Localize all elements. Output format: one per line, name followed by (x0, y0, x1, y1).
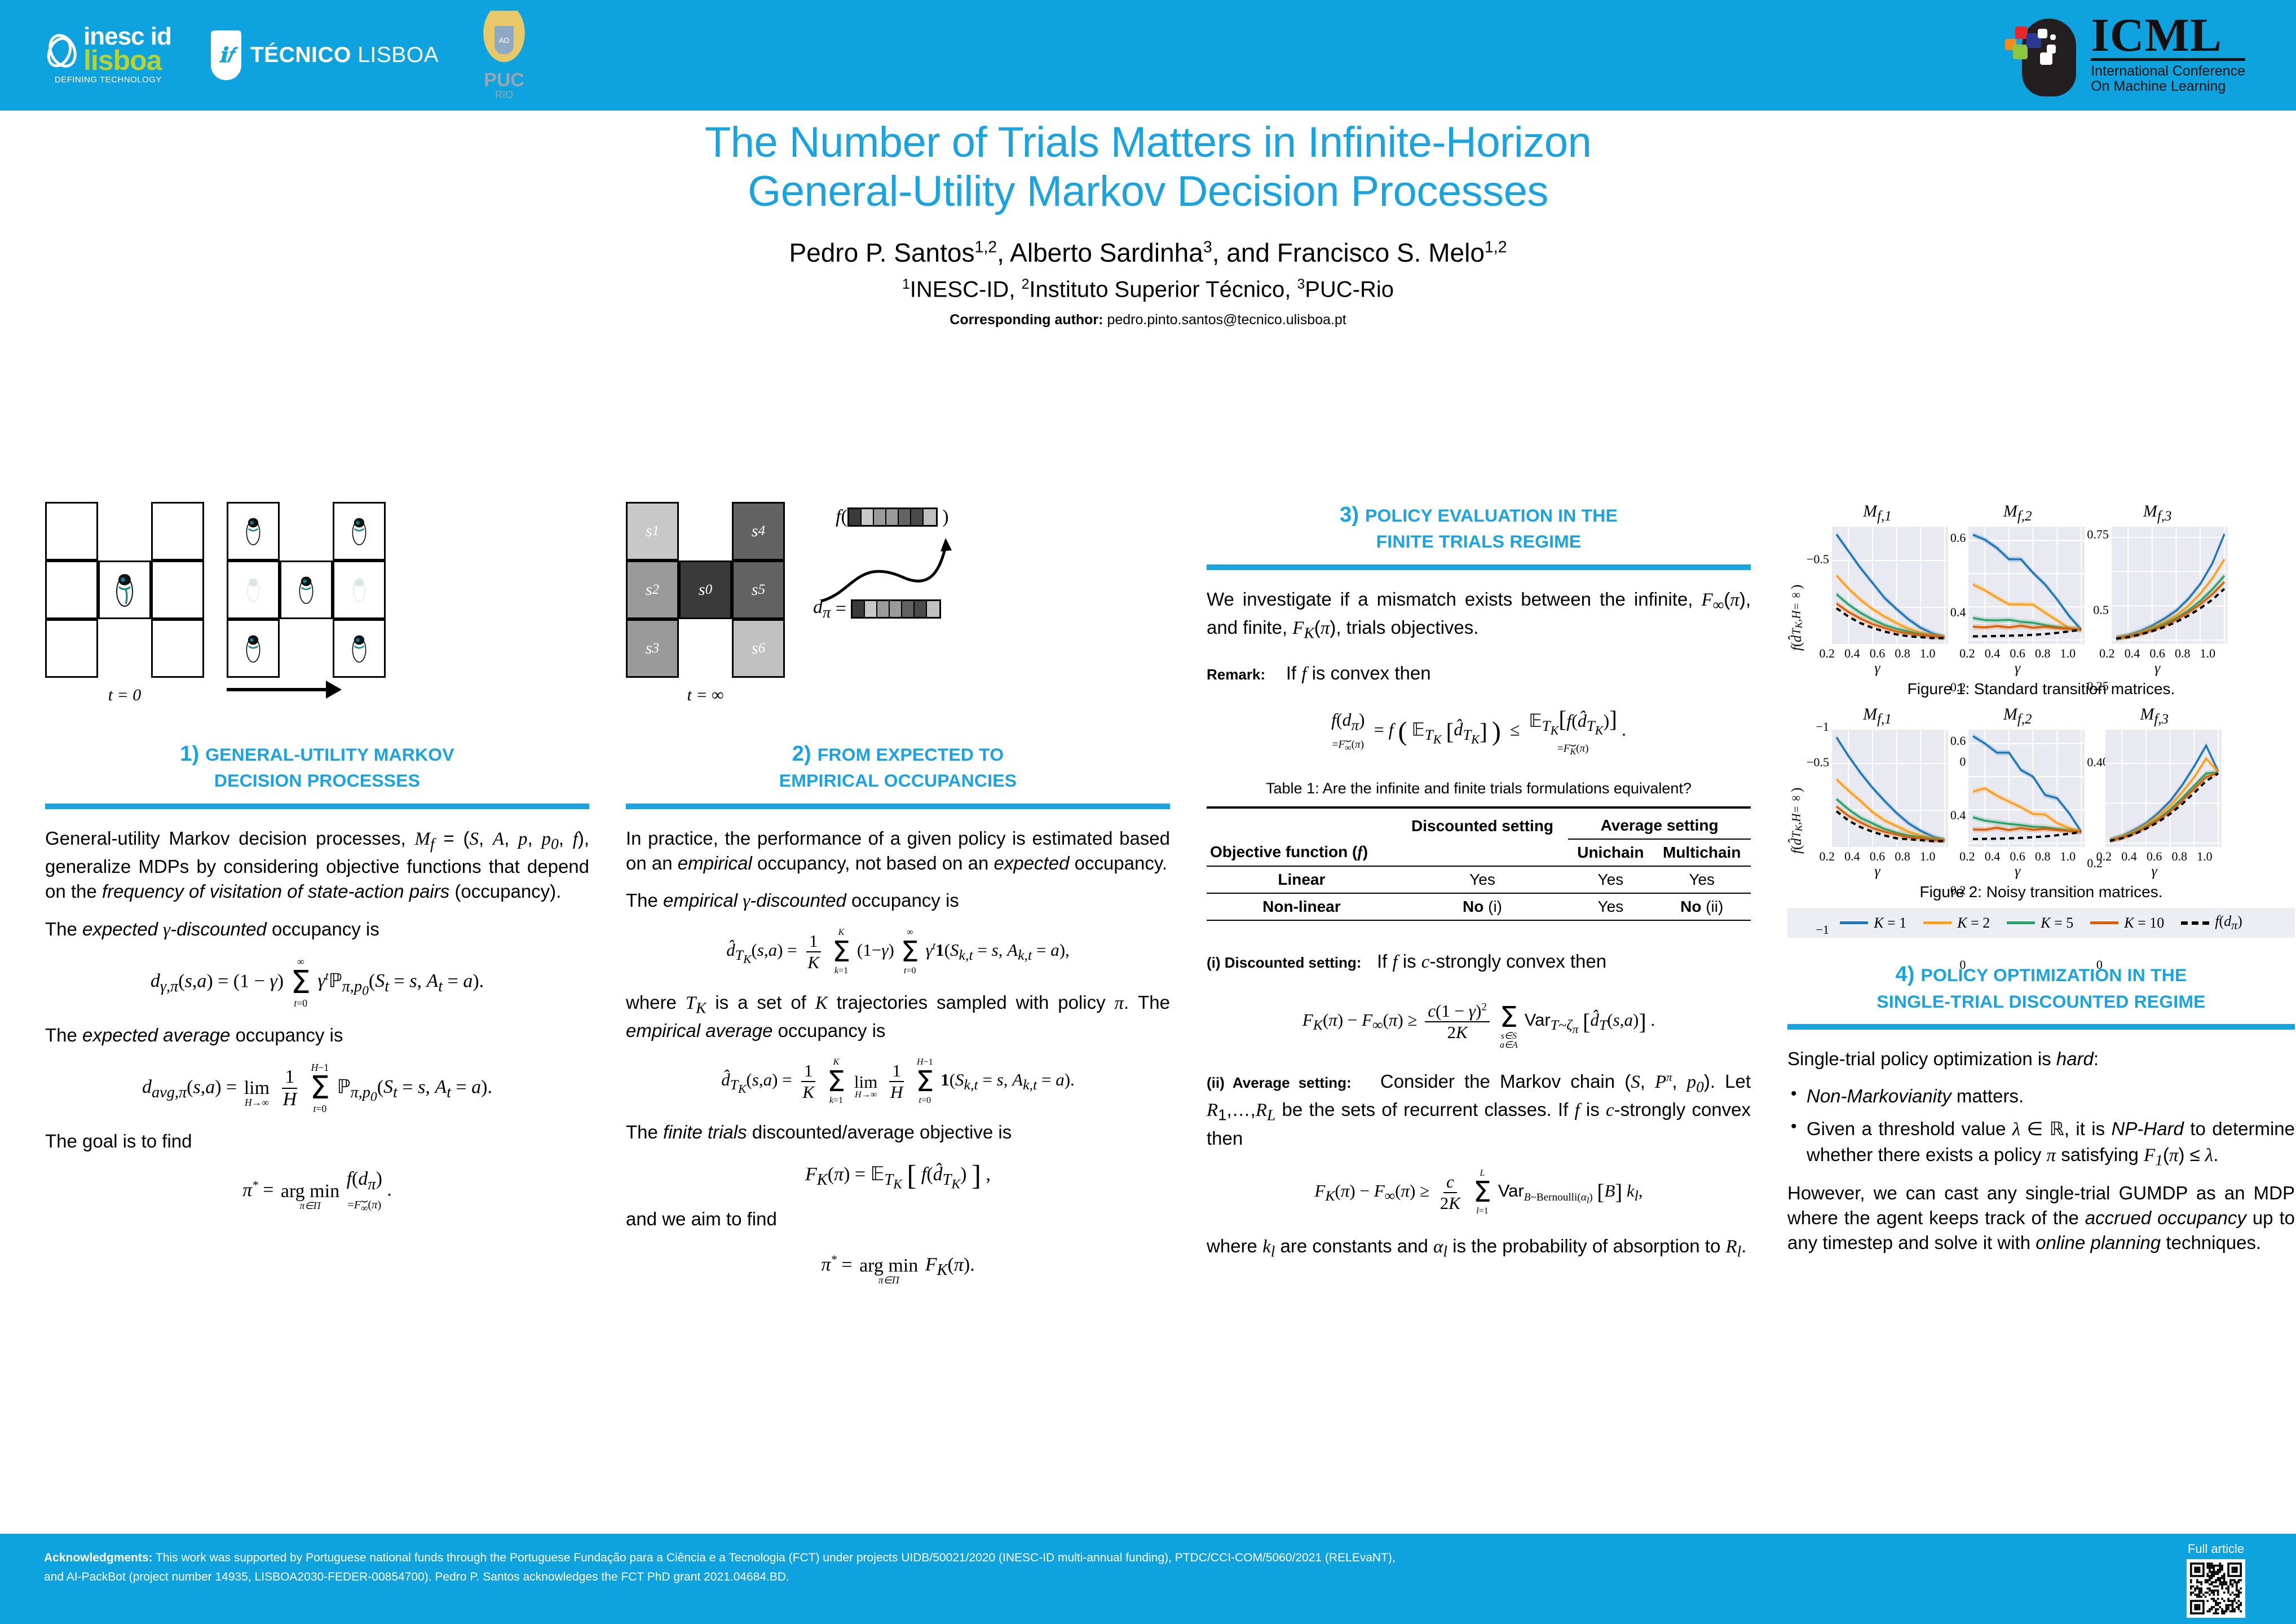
puc-name-text: PUC (484, 70, 524, 90)
qr-code-icon[interactable] (2187, 1559, 2245, 1618)
x-tick-label: 0.4 (1985, 646, 2001, 661)
puc-sub-text: RIO (495, 90, 513, 100)
column-2: s1 s4 s2 s0 s5 s3 s6 t = ∞ f( ) (626, 502, 1170, 1300)
x-tick-label: 0.8 (2172, 849, 2188, 864)
figure-2-ylabel: f(d̂TK,H=∞) (1787, 761, 1807, 880)
section-3-item-ii: (ii) Average setting: Consider the Marko… (1207, 1069, 1751, 1151)
x-tick-label: 0.4 (2125, 646, 2140, 661)
tecnico-lisboa-logo: ℹ𝑓 TÉCNICO LISBOA (211, 30, 439, 80)
state-cell-s0: s0 (679, 561, 732, 619)
section-2-equation-2: d̂TK(s,a) = 1K KΣk=1 limH→∞ 1H H−1Σt=0 1… (626, 1058, 1170, 1105)
full-article-qr[interactable]: Full article (2187, 1542, 2245, 1618)
title-line-2: General-Utility Markov Decision Processe… (0, 167, 2296, 217)
section-3-number: 3) (1340, 503, 1359, 527)
table-cell-nonlinear-multichain: No (ii) (1653, 893, 1751, 920)
icml-logo: ICML International Conference On Machine… (2003, 13, 2245, 98)
chart-x-axis: 0.20.40.60.81.0 (1959, 849, 2076, 864)
section-4-paragraph-1: Single-trial policy optimization is hard… (1787, 1047, 2295, 1071)
author-1-affil-sup: 1,2 (975, 239, 997, 257)
table-1: Discounted setting Average setting Objec… (1207, 806, 1751, 929)
chart-panel-title: Mf,2 (2003, 705, 2032, 727)
section-1-number: 1) (180, 742, 199, 766)
x-tick-label: 1.0 (2200, 646, 2216, 661)
section-1-divider (45, 804, 589, 809)
chart-panel-title: Mf,1 (1863, 502, 1892, 524)
chart-panel: Mf,30.750.50.2500.20.40.60.81.0γ (2087, 502, 2228, 677)
section-3-paragraph-1: We investigate if a mismatch exists betw… (1207, 587, 1751, 644)
section-2-heading: 2) FROM EXPECTED TO EMPIRICAL OCCUPANCIE… (626, 741, 1170, 793)
chart-x-label: γ (1959, 863, 2076, 880)
table-cell-linear-unichain: Yes (1568, 866, 1653, 893)
f-of-occupancy-expression: f( ) (836, 506, 949, 528)
chart-x-axis: 0.20.40.60.81.0 (1959, 646, 2076, 661)
chart-y-axis: 0.750.50.250 (2087, 527, 2112, 644)
occupancy-vector (851, 599, 941, 619)
x-tick-label: 0.6 (2010, 849, 2025, 864)
inesc-id-lisboa-logo: inesc id lisboa DEFINING TECHNOLOGY (45, 26, 171, 85)
title-line-1: The Number of Trials Matters in Infinite… (0, 118, 2296, 167)
chart-x-axis: 0.20.40.60.81.0 (2099, 646, 2215, 661)
x-tick-label: 0.6 (1870, 849, 1886, 864)
x-tick-label: 0.2 (1959, 646, 1975, 661)
legend-swatch (2090, 921, 2118, 924)
section-3-equation-remark: f(dπ)⏟=F∞(π) = f ( 𝔼TK [d̂TK] ) ≤ 𝔼TK[f(… (1207, 705, 1751, 757)
chart-plot-area (2105, 730, 2222, 847)
icml-subtitle-line1: International Conference (2091, 64, 2245, 79)
section-2-number: 2) (792, 742, 811, 766)
chart-x-label: γ (1819, 660, 1935, 677)
column-3: 3) POLICY EVALUATION IN THE FINITE TRIAL… (1207, 502, 1751, 1275)
chart-y-axis: −0.5−1 (1807, 730, 1832, 847)
chart-panel-title: Mf,3 (2143, 502, 2172, 524)
author-2-affil-sup: 3 (1203, 239, 1212, 257)
x-tick-label: 0.2 (2099, 646, 2115, 661)
section-2-paragraph-2: The empirical γ-discounted occupancy is (626, 888, 1170, 913)
corresponding-label: Corresponding author: (950, 312, 1103, 328)
section-4-number: 4) (1896, 963, 1915, 986)
section-4-heading: 4) POLICY OPTIMIZATION IN THE SINGLE-TRI… (1787, 961, 2295, 1014)
section-3-equation-ii: FK(π) − F∞(π) ≥ c2K LΣl=1 VarB~Bernoulli… (1207, 1169, 1751, 1216)
chart-panel-title: Mf,2 (2003, 502, 2032, 524)
x-tick-label: 1.0 (1920, 646, 1936, 661)
poster-footer: Acknowledgments: This work was supported… (0, 1534, 2296, 1624)
state-cell-s4: s4 (732, 502, 785, 561)
section-3-divider (1207, 564, 1751, 570)
section-2-equation-4: π* = arg minπ∈Π FK(π). (626, 1247, 1170, 1286)
chart-panel: Mf,1−0.5−10.20.40.60.81.0γ (1807, 502, 1948, 677)
inesc-atom-icon (45, 29, 80, 73)
chart-plot-area (1832, 527, 1948, 644)
legend-label: K = 5 (2041, 915, 2073, 932)
tecnico-light-text: LISBOA (357, 43, 439, 67)
puc-crest-icon: ΑΩ (478, 11, 530, 69)
chart-panel: Mf,20.60.40.200.20.40.60.81.0γ (1950, 705, 2085, 880)
x-tick-label: 0.8 (1895, 849, 1910, 864)
figure-2-caption: Figure 2: Noisy transition matrices. (1787, 883, 2295, 901)
robot-icon (245, 633, 262, 664)
acknowledgments: Acknowledgments: This work was supported… (44, 1548, 1397, 1587)
section-2-paragraph-4: The finite trials discounted/average obj… (626, 1120, 1170, 1145)
chart-x-label: γ (1959, 660, 2076, 677)
gridworld-t0 (45, 502, 204, 678)
x-tick-label: 0.6 (1870, 646, 1886, 661)
chart-legend: K = 1K = 2K = 5K = 10f(dπ) (1787, 908, 2295, 938)
gridworld-figure: t = 0 (45, 502, 589, 705)
robot-ghost-icon (352, 576, 367, 603)
bullet-np-hard: Given a threshold value λ ∈ ℝ, it is NP-… (1787, 1116, 2295, 1171)
puc-shield-icon: ΑΩ (493, 24, 515, 56)
robot-icon (351, 633, 368, 664)
x-tick-label: 0.6 (2010, 646, 2025, 661)
chart-y-axis: −0.5−1 (1807, 527, 1832, 644)
figure-2-panels: f(d̂TK,H=∞) Mf,1−0.5−10.20.40.60.81.0γMf… (1787, 705, 2295, 880)
chart-panel: Mf,30.40.200.20.40.60.81.0γ (2087, 705, 2222, 880)
x-tick-label: 0.8 (2175, 646, 2191, 661)
x-tick-label: 0.2 (1819, 646, 1835, 661)
table-cell-linear-multichain: Yes (1653, 866, 1751, 893)
remark-label: Remark: (1207, 666, 1265, 683)
time-arrow-icon (227, 688, 339, 691)
inesc-lisboa-text: lisboa (83, 48, 171, 73)
figure-2: f(d̂TK,H=∞) Mf,1−0.5−10.20.40.60.81.0γMf… (1787, 705, 2295, 901)
state-cell-s1: s1 (626, 502, 679, 561)
chart-x-axis: 0.20.40.60.81.0 (1819, 646, 1935, 661)
section-2-paragraph-5: and we aim to find (626, 1207, 1170, 1232)
inesc-tagline: DEFINING TECHNOLOGY (55, 75, 162, 85)
t0-label: t = 0 (45, 686, 204, 705)
table-sub-header-multichain: Multichain (1653, 839, 1751, 866)
author-list: Pedro P. Santos1,2, Alberto Sardinha3, a… (0, 237, 2296, 268)
occupancy-figure: s1 s4 s2 s0 s5 s3 s6 t = ∞ f( ) (626, 502, 1170, 705)
section-1-paragraph-3: The expected average occupancy is (45, 1023, 589, 1048)
chart-plot-area (1832, 730, 1948, 847)
legend-swatch (2007, 921, 2035, 924)
affiliation-2: Instituto Superior Técnico, (1029, 277, 1291, 302)
x-tick-label: 0.2 (1959, 849, 1975, 864)
legend-label: K = 1 (1874, 915, 1906, 932)
affiliation-list: 1INESC-ID, 2Instituto Superior Técnico, … (0, 277, 2296, 302)
section-4-bullets: Non-Markovianity matters. Given a thresh… (1787, 1084, 2295, 1171)
chart-x-label: γ (1819, 863, 1935, 880)
table-row-label-nonlinear: Non-linear (1207, 893, 1397, 920)
section-2-paragraph-1: In practice, the performance of a given … (626, 826, 1170, 876)
figure-1-panels: f(d̂TK,H=∞) Mf,1−0.5−10.20.40.60.81.0γMf… (1787, 502, 2295, 677)
table-group-header-average: Average setting (1568, 807, 1751, 839)
chart-y-axis: 0.40.20 (2087, 730, 2105, 847)
chart-panel-title: Mf,1 (1863, 705, 1892, 727)
section-3-title-a: POLICY EVALUATION IN THE (1365, 505, 1618, 526)
robot-icon (114, 572, 135, 607)
legend-item: K = 1 (1840, 915, 1906, 932)
section-4-divider (1787, 1024, 2295, 1030)
occupancy-grid: s1 s4 s2 s0 s5 s3 s6 (626, 502, 785, 678)
table-sub-header-unichain: Unichain (1568, 839, 1653, 866)
section-1-paragraph-1: General-utility Markov decision processe… (45, 826, 589, 904)
chart-panel: Mf,20.60.40.200.20.40.60.81.0γ (1950, 502, 2085, 677)
section-1-equation-3: π* = arg minπ∈Π f(dπ)⏟=F∞(π) . (45, 1168, 589, 1214)
legend-swatch (1923, 921, 1951, 924)
affiliation-1: INESC-ID, (910, 277, 1015, 302)
section-1-equation-1: dγ,π(s,a) = (1 − γ) ∞Σt=0 γtℙπ,p0(St = s… (45, 957, 589, 1008)
chart-x-axis: 0.20.40.60.81.0 (2096, 849, 2213, 864)
legend-item: K = 10 (2090, 915, 2164, 932)
table-cell-linear-discounted: Yes (1397, 866, 1568, 893)
section-1-title-b: DECISION PROCESSES (214, 770, 420, 791)
puc-rio-logo: ΑΩ PUC RIO (478, 11, 530, 100)
chart-y-axis: 0.60.40.20 (1950, 730, 1969, 847)
chart-plot-area (1968, 730, 2085, 847)
item-ii-label: (ii) Average setting: (1207, 1074, 1352, 1091)
x-tick-label: 0.4 (1985, 849, 2001, 864)
x-tick-label: 0.2 (1819, 849, 1835, 864)
section-4-title-b: SINGLE-TRIAL DISCOUNTED REGIME (1876, 991, 2205, 1012)
section-1-paragraph-2: The expected γ-discounted occupancy is (45, 917, 589, 942)
section-3-item-ii-after: where kl are constants and αl is the pro… (1207, 1234, 1751, 1262)
chart-x-label: γ (2099, 660, 2215, 677)
state-cell-s5: s5 (732, 561, 785, 619)
state-cell-s3: s3 (626, 619, 679, 678)
table-cell-nonlinear-unichain: Yes (1568, 893, 1653, 920)
section-1-title-a: GENERAL-UTILITY MARKOV (205, 744, 454, 765)
robot-ghost-icon (246, 576, 260, 603)
bullet-non-markovianity: Non-Markovianity matters. (1787, 1084, 2295, 1109)
legend-item: K = 5 (2007, 915, 2073, 932)
title-block: The Number of Trials Matters in Infinite… (0, 118, 2296, 328)
robot-icon (351, 516, 368, 546)
header-logos-left: inesc id lisboa DEFINING TECHNOLOGY ℹ𝑓 T… (45, 11, 530, 100)
section-1-paragraph-4: The goal is to find (45, 1129, 589, 1154)
x-tick-label: 1.0 (2197, 849, 2213, 864)
column-4: f(d̂TK,H=∞) Mf,1−0.5−10.20.40.60.81.0γMf… (1787, 502, 2295, 1268)
figure-1: f(d̂TK,H=∞) Mf,1−0.5−10.20.40.60.81.0γMf… (1787, 502, 2295, 698)
table-cell-nonlinear-discounted: No (i) (1397, 893, 1568, 920)
robot-icon (245, 516, 262, 546)
table-group-header-discounted: Discounted setting (1397, 807, 1568, 839)
legend-item: f(dπ) (2181, 913, 2242, 933)
x-tick-label: 0.8 (2035, 849, 2051, 864)
corresponding-author: Corresponding author: pedro.pinto.santos… (0, 312, 2296, 328)
t-infinity-label: t = ∞ (626, 686, 785, 705)
x-tick-label: 1.0 (2060, 646, 2076, 661)
legend-label: K = 10 (2124, 915, 2164, 932)
x-tick-label: 0.4 (1844, 646, 1860, 661)
section-2-title-a: FROM EXPECTED TO (818, 744, 1004, 765)
section-2-paragraph-3: where TK is a set of K trajectories samp… (626, 990, 1170, 1044)
x-tick-label: 0.6 (2147, 849, 2162, 864)
occupancy-vector-inside-f (847, 507, 938, 527)
chart-x-axis: 0.20.40.60.81.0 (1819, 849, 1935, 864)
legend-swatch (1840, 921, 1868, 924)
table-row-label-linear: Linear (1207, 866, 1397, 893)
section-3-heading: 3) POLICY EVALUATION IN THE FINITE TRIAL… (1207, 502, 1751, 554)
page-title: The Number of Trials Matters in Infinite… (0, 118, 2296, 216)
figure-1-ylabel: f(d̂TK,H=∞) (1787, 558, 1807, 677)
chart-plot-area (1968, 527, 2085, 644)
gridworld-trajectory (227, 502, 386, 678)
x-tick-label: 0.4 (1844, 849, 1860, 864)
acknowledgments-label: Acknowledgments: (44, 1551, 153, 1564)
section-4-paragraph-2: However, we can cast any single-trial GU… (1787, 1181, 2295, 1256)
table-row-header: Objective function (f) (1207, 839, 1397, 866)
section-2-title-b: EMPIRICAL OCCUPANCIES (779, 770, 1017, 791)
corresponding-email[interactable]: pedro.pinto.santos@tecnico.ulisboa.pt (1107, 312, 1346, 328)
icml-divider (2091, 58, 2245, 61)
section-2-equation-1: d̂TK(s,a) = 1K KΣk=1 (1−γ) ∞Σt=0 γt1(Sk,… (626, 928, 1170, 975)
ist-shield-icon: ℹ𝑓 (211, 30, 241, 80)
x-tick-label: 0.8 (2035, 646, 2051, 661)
section-3-item-i: (i) Discounted setting: If f is c-strong… (1207, 949, 1751, 974)
occupancy-vector-expression: dπ = (813, 597, 941, 622)
legend-label: K = 2 (1957, 915, 1990, 932)
chart-y-axis: 0.60.40.20 (1950, 527, 1969, 644)
legend-swatch (2181, 921, 2209, 925)
chart-panel-title: Mf,3 (2140, 705, 2169, 727)
legend-item: K = 2 (1923, 915, 1990, 932)
section-3-equation-i: FK(π) − F∞(π) ≥ c(1 − γ)22K Σs∈Sa∈A VarT… (1207, 994, 1751, 1050)
section-3-remark: Remark: If f is convex then (1207, 661, 1751, 686)
icml-title-text: ICML (2091, 16, 2245, 55)
x-tick-label: 0.6 (2149, 646, 2165, 661)
chart-plot-area (2112, 527, 2228, 644)
section-2-divider (626, 804, 1170, 809)
robot-icon (298, 575, 315, 605)
tecnico-bold-text: TÉCNICO (250, 43, 351, 67)
x-tick-label: 1.0 (1920, 849, 1936, 864)
legend-label: f(dπ) (2215, 913, 2242, 933)
column-1: t = 0 (45, 502, 589, 1229)
chart-x-label: γ (2096, 863, 2213, 880)
section-1-heading: 1) GENERAL-UTILITY MARKOV DECISION PROCE… (45, 741, 589, 793)
section-3-title-b: FINITE TRIALS REGIME (1376, 531, 1582, 551)
item-i-label: (i) Discounted setting: (1207, 954, 1361, 971)
icml-subtitle-line2: On Machine Learning (2091, 79, 2245, 94)
state-cell-s6: s6 (732, 619, 785, 678)
qr-label: Full article (2187, 1542, 2245, 1556)
x-tick-label: 0.8 (1895, 646, 1910, 661)
section-2-equation-3: FK(π) = 𝔼TK [ f(d̂TK) ] , (626, 1159, 1170, 1192)
acknowledgments-text: This work was supported by Portuguese na… (44, 1551, 1396, 1583)
state-cell-s2: s2 (626, 561, 679, 619)
x-tick-label: 0.4 (2121, 849, 2137, 864)
author-3-affil-sup: 1,2 (1485, 239, 1507, 257)
x-tick-label: 1.0 (2060, 849, 2076, 864)
figure-1-caption: Figure 1: Standard transition matrices. (1787, 680, 2295, 698)
icml-head-icon (2003, 13, 2076, 98)
poster-header: inesc id lisboa DEFINING TECHNOLOGY ℹ𝑓 T… (0, 0, 2296, 111)
affiliation-3: PUC-Rio (1305, 277, 1394, 302)
section-1-equation-2: davg,π(s,a) = limH→∞ 1H H−1Σt=0 ℙπ,p0(St… (45, 1063, 589, 1114)
table-1-caption: Table 1: Are the infinite and finite tri… (1207, 780, 1751, 797)
